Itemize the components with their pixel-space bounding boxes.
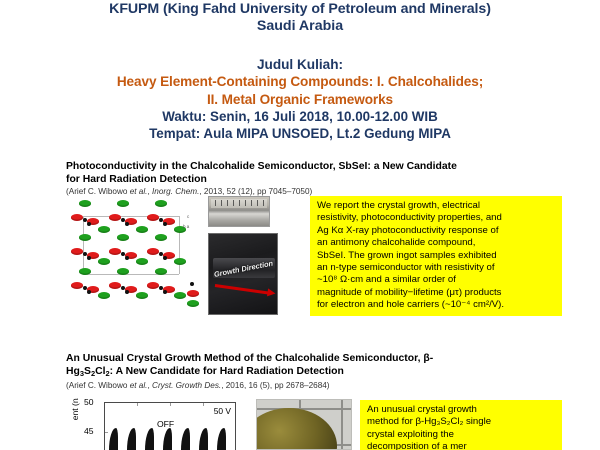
institution-line: KFUPM (King Fahd University of Petroleum… <box>0 1 600 18</box>
topic-line-2: II. Metal Organic Frameworks <box>0 91 600 109</box>
abstract1-line-8: for electron and hole carriers (~10⁻⁴ cm… <box>317 299 557 311</box>
crystal-structure-figure: c b a <box>63 196 203 324</box>
s2-hg: Hg <box>66 366 80 377</box>
cite2-etal: et al. <box>130 381 148 390</box>
abstract-callout-hg3s2cl2: An unusual crystal growth method for β-H… <box>360 400 562 450</box>
cite-prefix: (Arief C. Wibowo <box>66 187 130 196</box>
waktu-line: Waktu: Senin, 16 Juli 2018, 10.00-12.00 … <box>0 108 600 125</box>
abstract2-line-2: crystal exploiting the <box>367 429 557 441</box>
cite-etal: et al. <box>130 187 148 196</box>
chart-annotation-off: OFF <box>157 419 174 429</box>
abstract2-line-0: An unusual crystal growth <box>367 404 557 416</box>
abstract1-line-1: resistivity, photoconductivity propertie… <box>317 212 557 224</box>
chart-pulse <box>181 428 190 450</box>
photo-crystal-ingot: Growth Direction <box>208 233 278 315</box>
chart-pulse <box>109 428 118 450</box>
section1-title-line1: Photoconductivity in the Chalcohalide Se… <box>0 160 600 173</box>
photo-ingot-ruler <box>208 196 270 227</box>
abstract1-line-7: magnitude of mobility−lifetime (μτ) prod… <box>317 287 557 299</box>
cite2-journal: Cryst. Growth Des. <box>152 381 221 390</box>
legend-atom-green <box>187 300 199 307</box>
header-spacer <box>0 35 600 56</box>
chart-ytick-45: 45 <box>84 426 94 436</box>
s2-s: S <box>84 366 91 377</box>
tempat-line: Tempat: Aula MIPA UNSOED, Lt.2 Gedung MI… <box>0 125 600 142</box>
section2-citation: (Arief C. Wibowo et al., Cryst. Growth D… <box>0 380 600 391</box>
section-hg3s2cl2: An Unusual Crystal Growth Method of the … <box>0 352 600 391</box>
abstract2-line-1: method for β-Hg₃S₂Cl₂ single <box>367 416 557 428</box>
section2-title-line1: An Unusual Crystal Growth Method of the … <box>0 352 600 365</box>
section2-title-line2: Hg3S2Cl2: A New Candidate for Hard Radia… <box>0 365 600 380</box>
cite2-prefix: (Arief C. Wibowo <box>66 381 130 390</box>
ruler-scale <box>211 199 267 208</box>
country-line: Saudi Arabia <box>0 18 600 35</box>
chart-pulse <box>145 428 154 450</box>
abstract-callout-sbsei: We report the crystal growth, electrical… <box>310 196 562 316</box>
cite2-suffix: , 2016, 16 (5), pp 2678–2684) <box>221 381 329 390</box>
topic-line-1: Heavy Element-Containing Compounds: I. C… <box>0 73 600 91</box>
judul-label: Judul Kuliah: <box>0 56 600 73</box>
legend-atom-red <box>187 290 199 297</box>
chart-pulse <box>127 428 136 450</box>
chart-pulse <box>217 428 226 450</box>
chart-annotation-voltage: 50 V <box>214 406 231 416</box>
abstract2-line-3: decomposition of a mer <box>367 441 557 450</box>
photo-hg3s2cl2-crystal <box>256 399 352 450</box>
s2-cl: Cl <box>95 366 105 377</box>
abstract1-line-6: ~10⁸ Ω·cm and a similar order of <box>317 274 557 286</box>
slide-page: KFUPM (King Fahd University of Petroleum… <box>0 0 600 450</box>
chart-ytick-50: 50 <box>84 398 94 407</box>
axis-label-c: c <box>187 214 189 219</box>
crystal-sample <box>256 408 337 450</box>
photocurrent-chart: ent (nA) 50 45 50 V OFF <box>62 398 248 450</box>
abstract1-line-5: an n-type semiconductor with resistivity… <box>317 262 557 274</box>
s2-rest: : A New Candidate for Hard Radiation Det… <box>110 366 344 377</box>
chart-pulse <box>163 428 172 450</box>
chart-y-axis-label: ent (nA) <box>70 398 80 432</box>
chart-pulse <box>199 428 208 450</box>
legend-atom-black <box>190 282 194 286</box>
cite-suffix: , 2013, 52 (12), pp 7045–7050) <box>199 187 312 196</box>
abstract1-line-3: an antimony chalcohalide compound, <box>317 237 557 249</box>
growth-direction-arrow-icon <box>215 284 269 294</box>
abstract1-line-0: We report the crystal growth, electrical <box>317 200 557 212</box>
cite-journal: Inorg. Chem. <box>152 187 199 196</box>
axis-label-ba: b a <box>183 224 189 229</box>
abstract1-line-4: SbSeI. The grown ingot samples exhibited <box>317 250 557 262</box>
section-sbsei: Photoconductivity in the Chalcohalide Se… <box>0 160 600 197</box>
header-block: KFUPM (King Fahd University of Petroleum… <box>0 0 600 142</box>
abstract1-line-2: Ag Kα X-ray photoconductivity response o… <box>317 225 557 237</box>
chart-plot-area: 50 V OFF <box>104 402 236 450</box>
section1-title-line2: for Hard Radiation Detection <box>0 173 600 186</box>
